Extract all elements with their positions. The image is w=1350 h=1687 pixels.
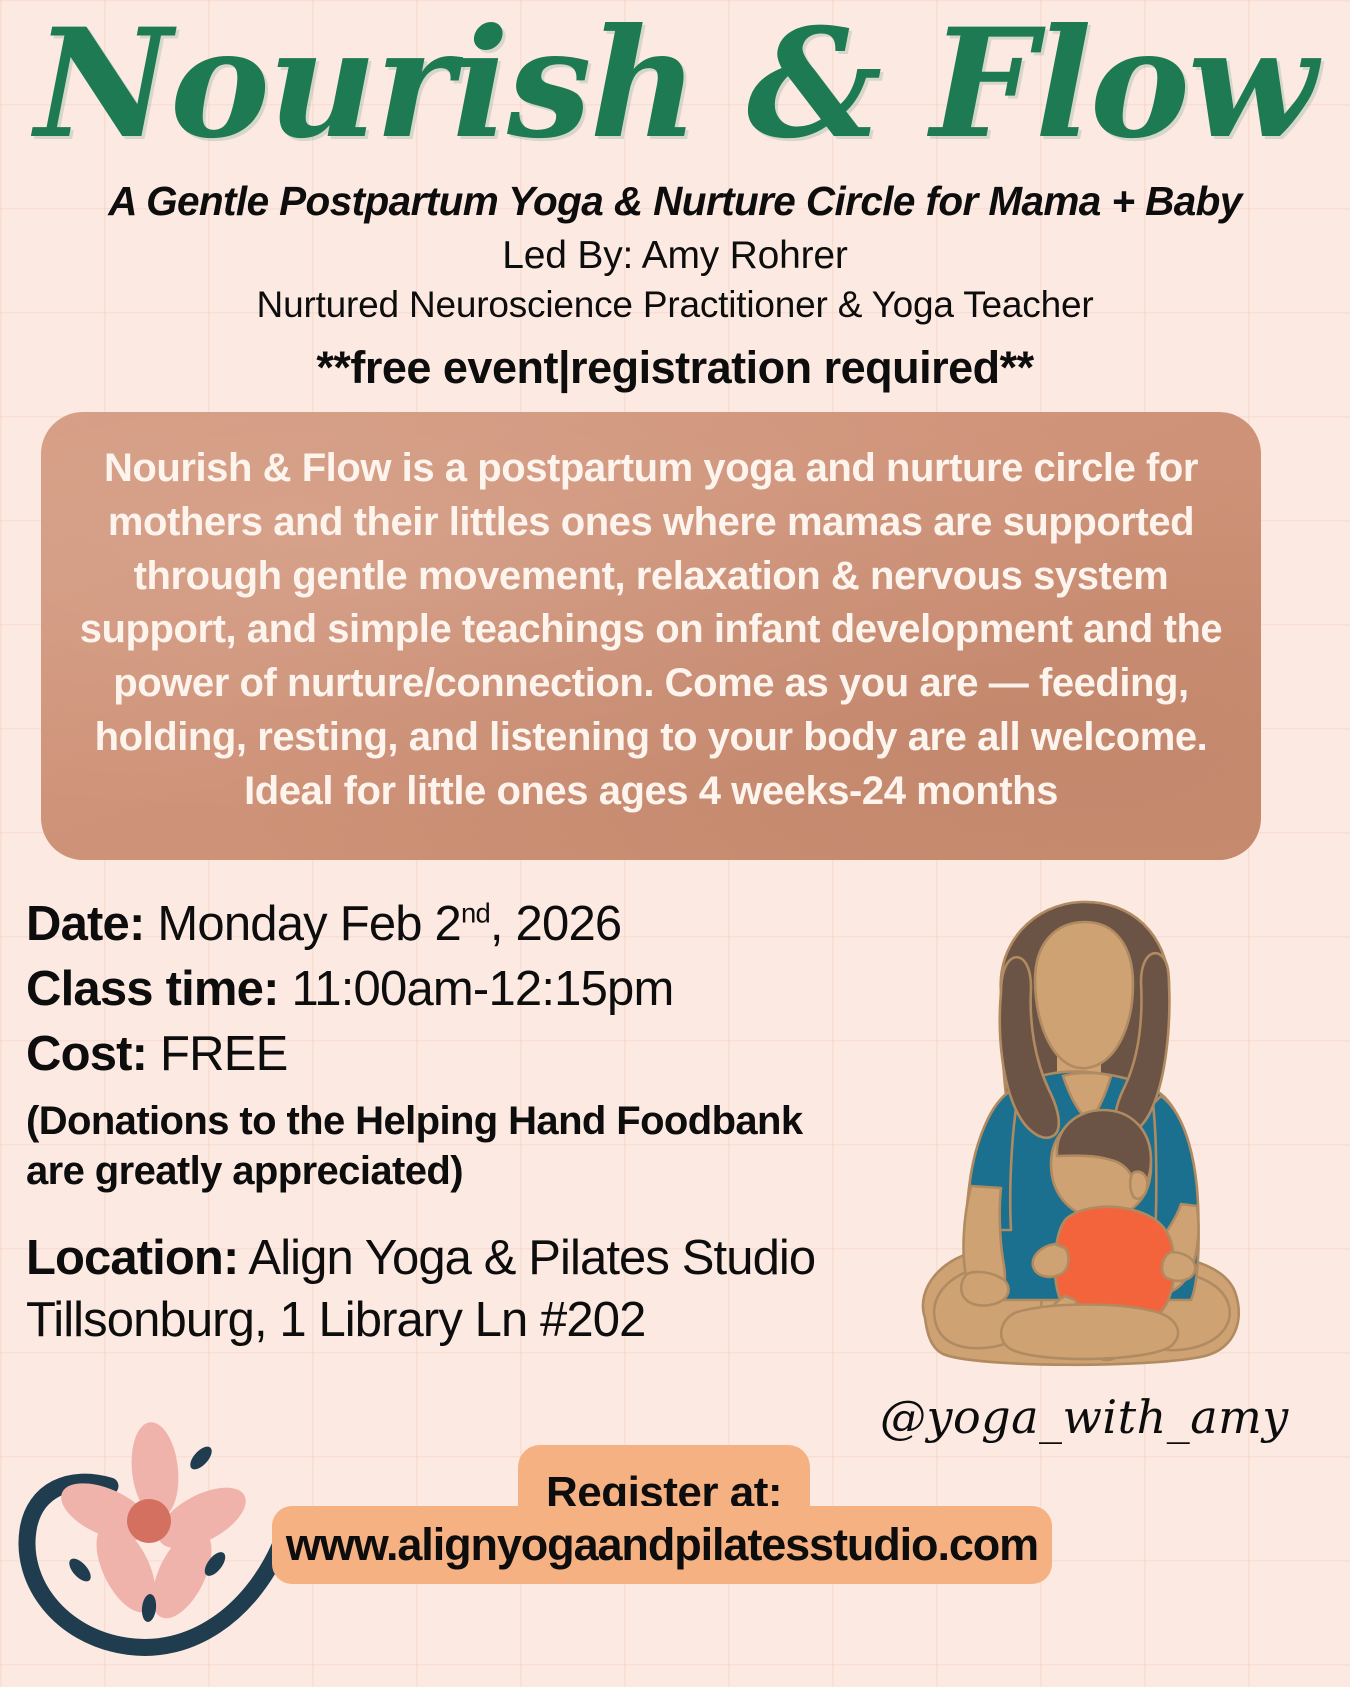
poster-canvas: Nourish & Flow A Gentle Postpartum Yoga … <box>0 0 1350 1687</box>
social-handle: @yoga_with_amy <box>880 1390 1240 1444</box>
donations-line-2: are greatly appreciated) <box>26 1147 906 1197</box>
free-event-note: **free event|registration required** <box>0 342 1350 394</box>
class-time-label: Class time: <box>26 962 279 1016</box>
detail-class-time: Class time: 11:00am-12:15pm <box>26 957 906 1022</box>
date-label: Date: <box>26 897 145 951</box>
location-label: Location: <box>26 1231 238 1285</box>
studio-logo <box>14 1378 289 1668</box>
date-value: Monday Feb 2nd, 2026 <box>157 897 621 951</box>
donations-note: (Donations to the Helping Hand Foodbank … <box>26 1097 906 1196</box>
detail-location: Location: Align Yoga & Pilates Studio <box>26 1227 906 1290</box>
description-card: Nourish & Flow is a postpartum yoga and … <box>41 412 1261 860</box>
detail-date: Date: Monday Feb 2nd, 2026 <box>26 892 906 957</box>
class-time-value: 11:00am-12:15pm <box>291 962 673 1016</box>
location-value: Align Yoga & Pilates Studio <box>248 1231 815 1285</box>
donations-line-1: (Donations to the Helping Hand Foodbank <box>26 1097 906 1147</box>
detail-cost: Cost: FREE <box>26 1022 906 1087</box>
location-address: Tillsonburg, 1 Library Ln #202 <box>26 1289 906 1352</box>
cost-value: FREE <box>160 1027 287 1081</box>
mother-and-baby-illustration <box>905 888 1250 1380</box>
cost-label: Cost: <box>26 1027 147 1081</box>
location-block: Location: Align Yoga & Pilates Studio Ti… <box>26 1227 906 1352</box>
event-details: Date: Monday Feb 2nd, 2026 Class time: 1… <box>26 892 906 1352</box>
flower-center <box>127 1499 171 1543</box>
poster-subtitle: A Gentle Postpartum Yoga & Nurture Circl… <box>0 178 1350 225</box>
register-url[interactable]: www.alignyogaandpilatesstudio.com <box>272 1506 1052 1584</box>
instructor-line: Led By: Amy Rohrer <box>0 234 1350 278</box>
page-title: Nourish & Flow <box>0 6 1350 164</box>
date-ordinal-suffix: nd <box>461 898 490 929</box>
instructor-credential: Nurtured Neuroscience Practitioner & Yog… <box>0 284 1350 326</box>
